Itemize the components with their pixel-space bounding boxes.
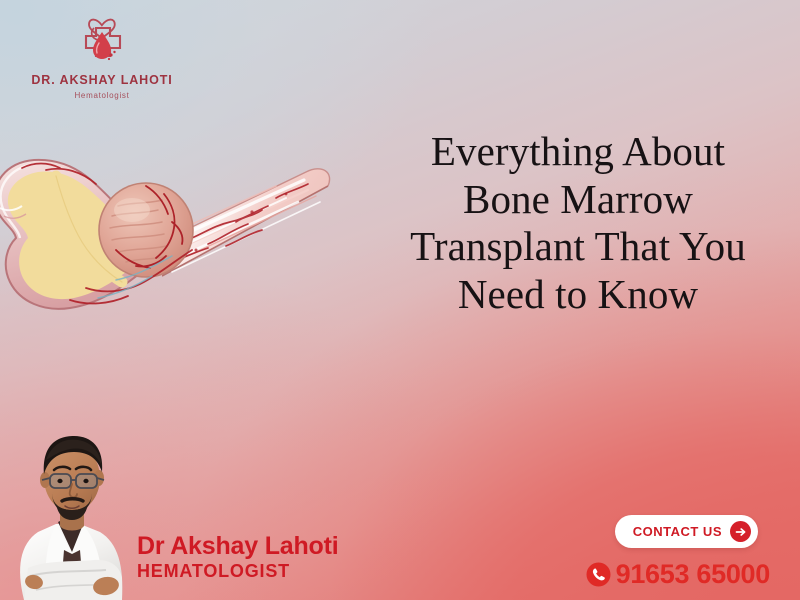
phone-icon [586,562,611,587]
logo-name-text: DR. AKSHAY LAHOTI [22,74,182,88]
headline-line-3: Transplant That You [364,223,792,271]
phone-contact[interactable]: 91653 65000 [586,561,770,588]
headline-line-2: Bone Marrow [364,176,792,224]
contact-us-button[interactable]: CONTACT US [615,515,758,548]
doctor-portrait [0,400,159,600]
footer-doctor-name: Dr Akshay Lahoti [137,533,338,561]
brand-logo[interactable]: DR. AKSHAY LAHOTI Hematologist [22,10,182,100]
contact-us-label: CONTACT US [633,524,722,539]
footer-doctor-role: HEMATOLOGIST [137,561,338,582]
promo-banner: DR. AKSHAY LAHOTI Hematologist [0,0,800,600]
phone-number-text: 91653 65000 [616,561,770,588]
logo-subtitle-text: Hematologist [22,91,182,100]
page-title: Everything About Bone Marrow Transplant … [364,128,792,318]
headline-line-1: Everything About [364,128,792,176]
heart-blooddrop-cross-icon [66,10,138,72]
bone-marrow-cross-section-illustration [0,150,360,332]
headline-line-4: Need to Know [364,271,792,319]
arrow-right-icon [730,521,751,542]
footer-identity: Dr Akshay Lahoti HEMATOLOGIST [137,533,338,582]
